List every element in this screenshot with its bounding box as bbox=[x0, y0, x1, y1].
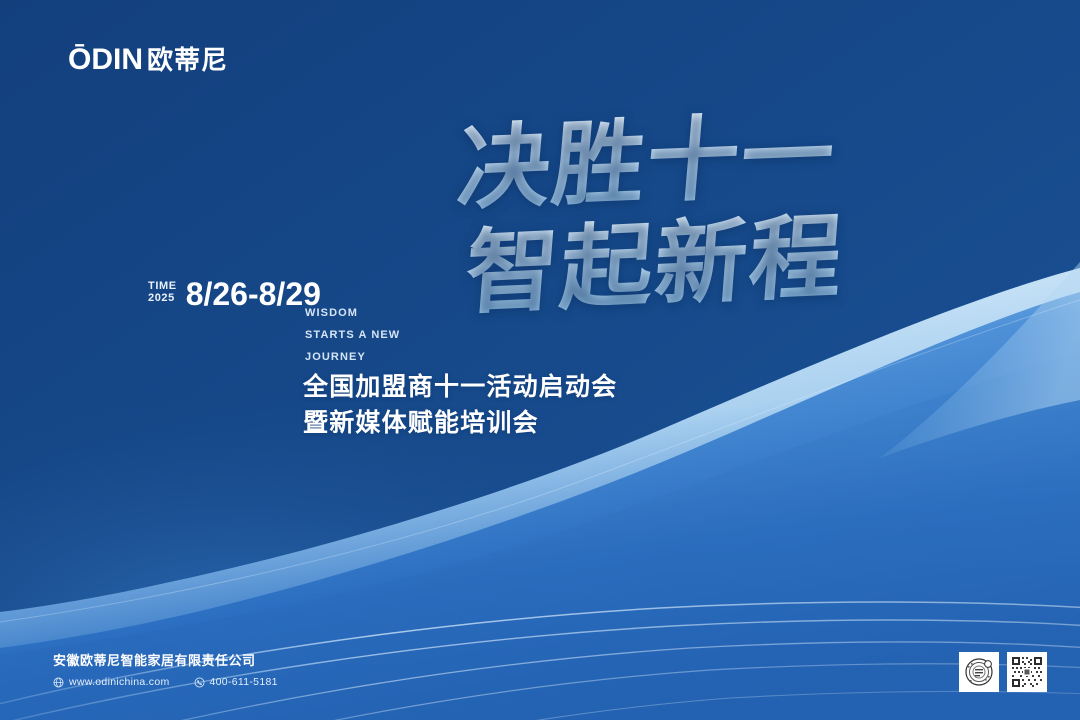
poster-headline: 决胜十一 智起新程 bbox=[445, 112, 915, 311]
date-label-stack: TIME 2025 bbox=[148, 281, 177, 307]
logo-mark: ŌDIN bbox=[68, 45, 143, 75]
website-contact[interactable]: www.odinichina.com bbox=[53, 676, 170, 688]
phone-number: 400-611-5181 bbox=[210, 676, 278, 688]
headline-line-1: 决胜十一 bbox=[454, 103, 920, 217]
subtitle-line-1: 全国加盟商十一活动启动会 bbox=[303, 369, 617, 405]
phone-contact[interactable]: 400-611-5181 bbox=[194, 676, 278, 688]
phone-icon bbox=[194, 677, 205, 688]
english-tagline: WISDOM STARTS A NEW JOURNEY bbox=[305, 302, 400, 368]
tagline-line-1: WISDOM bbox=[305, 302, 400, 324]
company-name: 安徽欧蒂尼智能家居有限责任公司 bbox=[53, 650, 278, 669]
poster-canvas: ŌDIN 欧蒂尼 决胜十一 智起新程 TIME 2025 8/26-8/29 W… bbox=[0, 0, 1080, 720]
event-subtitle: 全国加盟商十一活动启动会 暨新媒体赋能培训会 bbox=[303, 369, 617, 440]
tagline-line-3: JOURNEY bbox=[305, 346, 400, 368]
qr-code-wechat-official[interactable] bbox=[959, 652, 999, 692]
tagline-line-2: STARTS A NEW bbox=[305, 324, 400, 346]
brand-logo: ŌDIN 欧蒂尼 bbox=[68, 45, 228, 75]
contact-row: www.odinichina.com 400-611-5181 bbox=[53, 676, 278, 688]
date-label-time: TIME bbox=[148, 281, 177, 293]
headline-line-2: 智起新程 bbox=[462, 204, 920, 321]
date-range: 8/26-8/29 bbox=[186, 278, 321, 310]
footer-contact-block: 安徽欧蒂尼智能家居有限责任公司 www.odinichina.com bbox=[53, 650, 278, 688]
date-label-year: 2025 bbox=[148, 293, 177, 305]
qr-code-mini-program[interactable] bbox=[1007, 652, 1047, 692]
subtitle-line-2: 暨新媒体赋能培训会 bbox=[303, 405, 617, 441]
globe-icon bbox=[53, 677, 64, 688]
website-url: www.odinichina.com bbox=[69, 676, 170, 688]
event-date: TIME 2025 8/26-8/29 bbox=[148, 278, 321, 310]
qr-code-group bbox=[959, 652, 1047, 692]
logo-chinese-name: 欧蒂尼 bbox=[147, 48, 228, 75]
